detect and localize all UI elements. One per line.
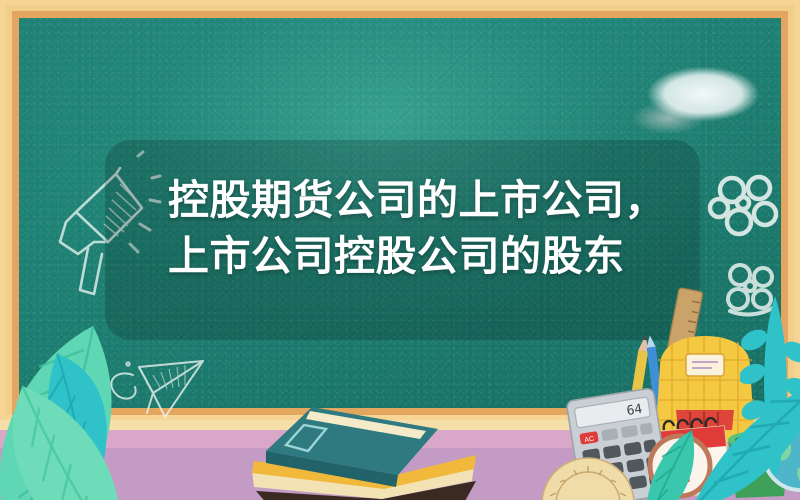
page-title-line-2: 上市公司控股公司的股东 bbox=[168, 233, 625, 279]
page-title-line-1: 控股期货公司的上市公司， bbox=[168, 177, 666, 223]
banner-canvas: 控股期货公司的上市公司，上市公司控股公司的股东 bbox=[0, 0, 800, 500]
book-stack-icon bbox=[250, 395, 480, 500]
calculator-display-value: 64 bbox=[626, 402, 644, 419]
eraser-smudge-icon bbox=[620, 52, 780, 152]
page-title: 控股期货公司的上市公司，上市公司控股公司的股东 bbox=[168, 172, 688, 284]
